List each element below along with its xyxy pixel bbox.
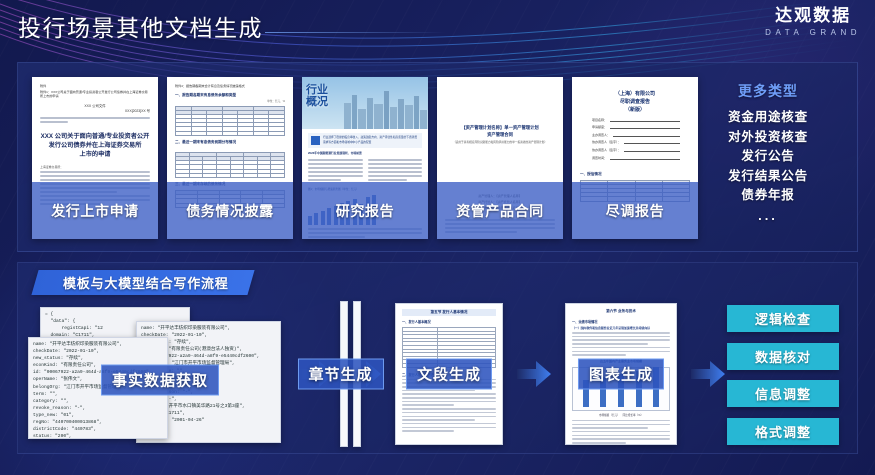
more-type-item[interactable]: 发行公告 [693,147,843,167]
brand-logo-en: DATA GRAND [765,27,861,38]
check-button-label: 信息调整 [755,384,811,403]
doc-main-title: 【资产管理计划名称】单一资产管理计划 资产管理合同 [445,124,555,138]
document-heading: 第五节 发行人基本情况 [402,309,496,316]
doc-card-asset-management-contract[interactable]: 【资产管理计划名称】单一资产管理计划 资产管理合同 （适用于具有相应风险识别能力… [437,77,563,239]
workflow-stage-label-text: 图表生成 [589,367,653,384]
title-underline-rule [265,32,445,33]
check-button-group: 逻辑检查 数据核对 信息调整 格式调整 [727,305,839,445]
doc-card-issuance-application[interactable]: 附件 附件1：XXX公司关于面向普通/专业投资者公开发行公司债券并在上海证券交易… [32,77,158,239]
doc-field-key: 协办调查人（签字）： [592,140,621,144]
check-button-label: 格式调整 [755,422,811,441]
page-header: 投行场景其他文档生成 达观数据 DATA GRAND [0,0,875,52]
doc-main-title: XXX 公司关于面向普通/专业投资者公开 发行公司债券并在上海证券交易所 上市的… [40,132,150,159]
arrow-right-icon [517,361,551,387]
workflow-stage-label: 事实数据获取 [101,364,219,395]
doc-heading: 附件4：报告期各期末合计有息及债务情况披露格式 [175,84,285,89]
doc-main-title: （上海）有限公司 尽职调查报告 （新版） [580,90,690,114]
doc-hero-title: 行业 概况 [306,84,328,108]
doc-hero-image: 行业 概况 [302,77,428,129]
workflow-stage-chart-generation[interactable]: 第六节 业务与技术 一、业绩市场情况 （一）国内软件和信息服务业近几年呈现加速增… [557,301,685,447]
doc-field-key: 调查时间： [592,156,607,160]
more-type-ellipsis: ... [693,206,843,226]
doc-field-row: 协办调查人（签字）： [592,148,680,152]
bar-chart-icon [311,136,320,145]
doc-field-row: 项目名称： [592,118,680,122]
workflow-stage-chapter-generation[interactable]: 第五节 发行人基本情况 一、发行人基本概况 二、发行人设立情况及股改情况 （一）… [340,301,341,447]
page-title: 投行场景其他文档生成 [18,9,263,43]
doc-highlight-text: 行业选择了稳健的股息率收入、政策鼓励方向、资产评估性和高质量的下游消费需求等方面… [323,136,419,144]
doc-card-label-text: 债务情况披露 [186,201,274,221]
chart-legend: 市场规模（亿元） 同比增长率（%） [572,413,670,417]
workflow-stage-checks: 逻辑检查 数据核对 信息调整 格式调整 [731,301,849,447]
doc-subtitle: （适用于具有相应风险识别能力和风险承担能力的单一投资者的资产管理计划） [445,141,555,145]
doc-section-2: 二、最近一期末有息债务到期分布情况 [175,140,285,145]
check-button-data[interactable]: 数据核对 [727,343,839,370]
doc-card-research-report[interactable]: 行业 概况 行业选择了稳健的股息率收入、政策鼓励方向、资产评估性和高质量的下游消… [302,77,428,239]
doc-subtitle: 2023年中国新能源行业发展现状、市场前景 [308,151,422,155]
doc-field-key: 协办调查人（签字）： [592,148,621,152]
doc-card-label: 发行上市申请 [32,182,158,239]
doc-card-debt-disclosure[interactable]: 附件4：报告期各期末合计有息及债务情况披露格式 一、报告期各期末有息债务余额和类… [167,77,293,239]
check-button-logic[interactable]: 逻辑检查 [727,305,839,332]
workflow-banner: 模板与大模型结合写作流程 [31,270,254,295]
more-type-item[interactable]: 对外投资核查 [693,128,843,148]
doc-section-1: 一、报告期各期末有息债务余额和类型 [175,93,285,98]
doc-unit-note: 单位：亿元、% [175,99,285,103]
more-types-title: 更多类型 [693,81,843,101]
workflow-stage-label-text: 文段生成 [417,367,481,384]
doc-field-key: 主办调查人： [592,133,610,137]
workflow-arrow-4 [685,361,731,387]
workflow-stage-data-acquisition[interactable]: = { "data": { registCapi: "12 domain: "C… [26,301,294,447]
doc-card-label-text: 资管产品合同 [456,201,544,221]
workflow-stage-label-text: 章节生成 [308,367,372,384]
doc-card-label: 尽调报告 [572,182,698,239]
doc-card-label: 资管产品合同 [437,182,563,239]
chart-legend-item: 市场规模（亿元） [599,413,620,417]
document-card-strip: 附件 附件1：XXX公司关于面向普通/专业投资者公开发行公司债券并在上海证券交易… [32,77,698,239]
workflow-flow: = { "data": { registCapi: "12 domain: "C… [26,301,849,447]
more-type-item[interactable]: 发行结果公告 [693,167,843,187]
brand-logo-cn: 达观数据 [765,6,861,26]
document-subheading-2: （一）国内软件和信息服务业近几年呈现加速增长并持续向好 [572,326,670,330]
doc-unit-note-2 [175,146,285,149]
workflow-panel: 模板与大模型结合写作流程 = { "data": { registCapi: "… [17,262,858,454]
more-types-list: 更多类型 资金用途核查 对外投资核查 发行公告 发行结果公告 债券年报 ... [693,81,843,225]
workflow-stage-label-text: 事实数据获取 [112,372,208,389]
arrow-right-icon [691,361,725,387]
doc-section-title: 一、授信情况 [580,172,690,177]
doc-field-key: 申请额度： [592,125,607,129]
doc-card-label: 债务情况披露 [167,182,293,239]
workflow-stage-label: 章节生成 [297,359,383,390]
workflow-arrow-3 [511,361,557,387]
brand-logo: 达观数据 DATA GRAND [765,6,861,38]
doc-card-label: 研究报告 [302,182,428,239]
doc-subheading: 附件1：XXX公司关于面向普通/专业投资者公开发行公司债券并在上海证券交易所上市… [40,90,150,99]
doc-table-1 [175,106,285,136]
doc-field-row: 主办调查人： [592,133,680,137]
document-subheading-1: 一、业绩市场情况 [572,319,670,324]
doc-field-row: 调查时间： [592,156,680,160]
doc-field-row: 协办调查人（签字）： [592,140,680,144]
check-button-format[interactable]: 格式调整 [727,418,839,445]
doc-body-opening: 上海证券交易所： [40,165,150,169]
check-button-label: 数据核对 [755,347,811,366]
doc-card-label-text: 研究报告 [336,201,394,221]
more-type-item[interactable]: 债券年报 [693,186,843,206]
check-button-info[interactable]: 信息调整 [727,380,839,407]
document-types-panel: 附件 附件1：XXX公司关于面向普通/专业投资者公开发行公司债券并在上海证券交易… [17,62,858,252]
document-subheading: 一、发行人基本概况 [402,319,496,324]
doc-highlight-bar: 行业选择了稳健的股息率收入、政策鼓励方向、资产评估性和高质量的下游消费需求等方面… [308,133,422,148]
doc-card-due-diligence-report[interactable]: （上海）有限公司 尽职调查报告 （新版） 项目名称： 申请额度： 主办调查人： … [572,77,698,239]
workflow-stage-paragraph-generation[interactable]: 第五节 发行人基本情况 一、发行人基本概况 二、发行人设立及历史沿革 [387,301,511,447]
workflow-banner-text: 模板与大模型结合写作流程 [63,273,229,292]
more-type-item[interactable]: 资金用途核查 [693,108,843,128]
doc-field-row: 申请额度： [592,125,680,129]
doc-card-label-text: 发行上市申请 [51,201,139,221]
workflow-stage-label: 图表生成 [578,359,664,390]
document-heading: 第六节 业务与技术 [572,309,670,314]
chart-legend-item: 同比增长率（%） [623,413,643,417]
doc-table-2 [175,152,285,178]
doc-card-label-text: 尽调报告 [606,201,664,221]
more-types-items: 资金用途核查 对外投资核查 发行公告 发行结果公告 债券年报 ... [693,108,843,225]
doc-heading: 附件 [40,84,150,89]
check-button-label: 逻辑检查 [755,309,811,328]
doc-code: XXX[2023]XX 号 [40,109,150,114]
doc-field-key: 项目名称： [592,118,607,122]
workflow-stage-label: 文段生成 [406,359,492,390]
